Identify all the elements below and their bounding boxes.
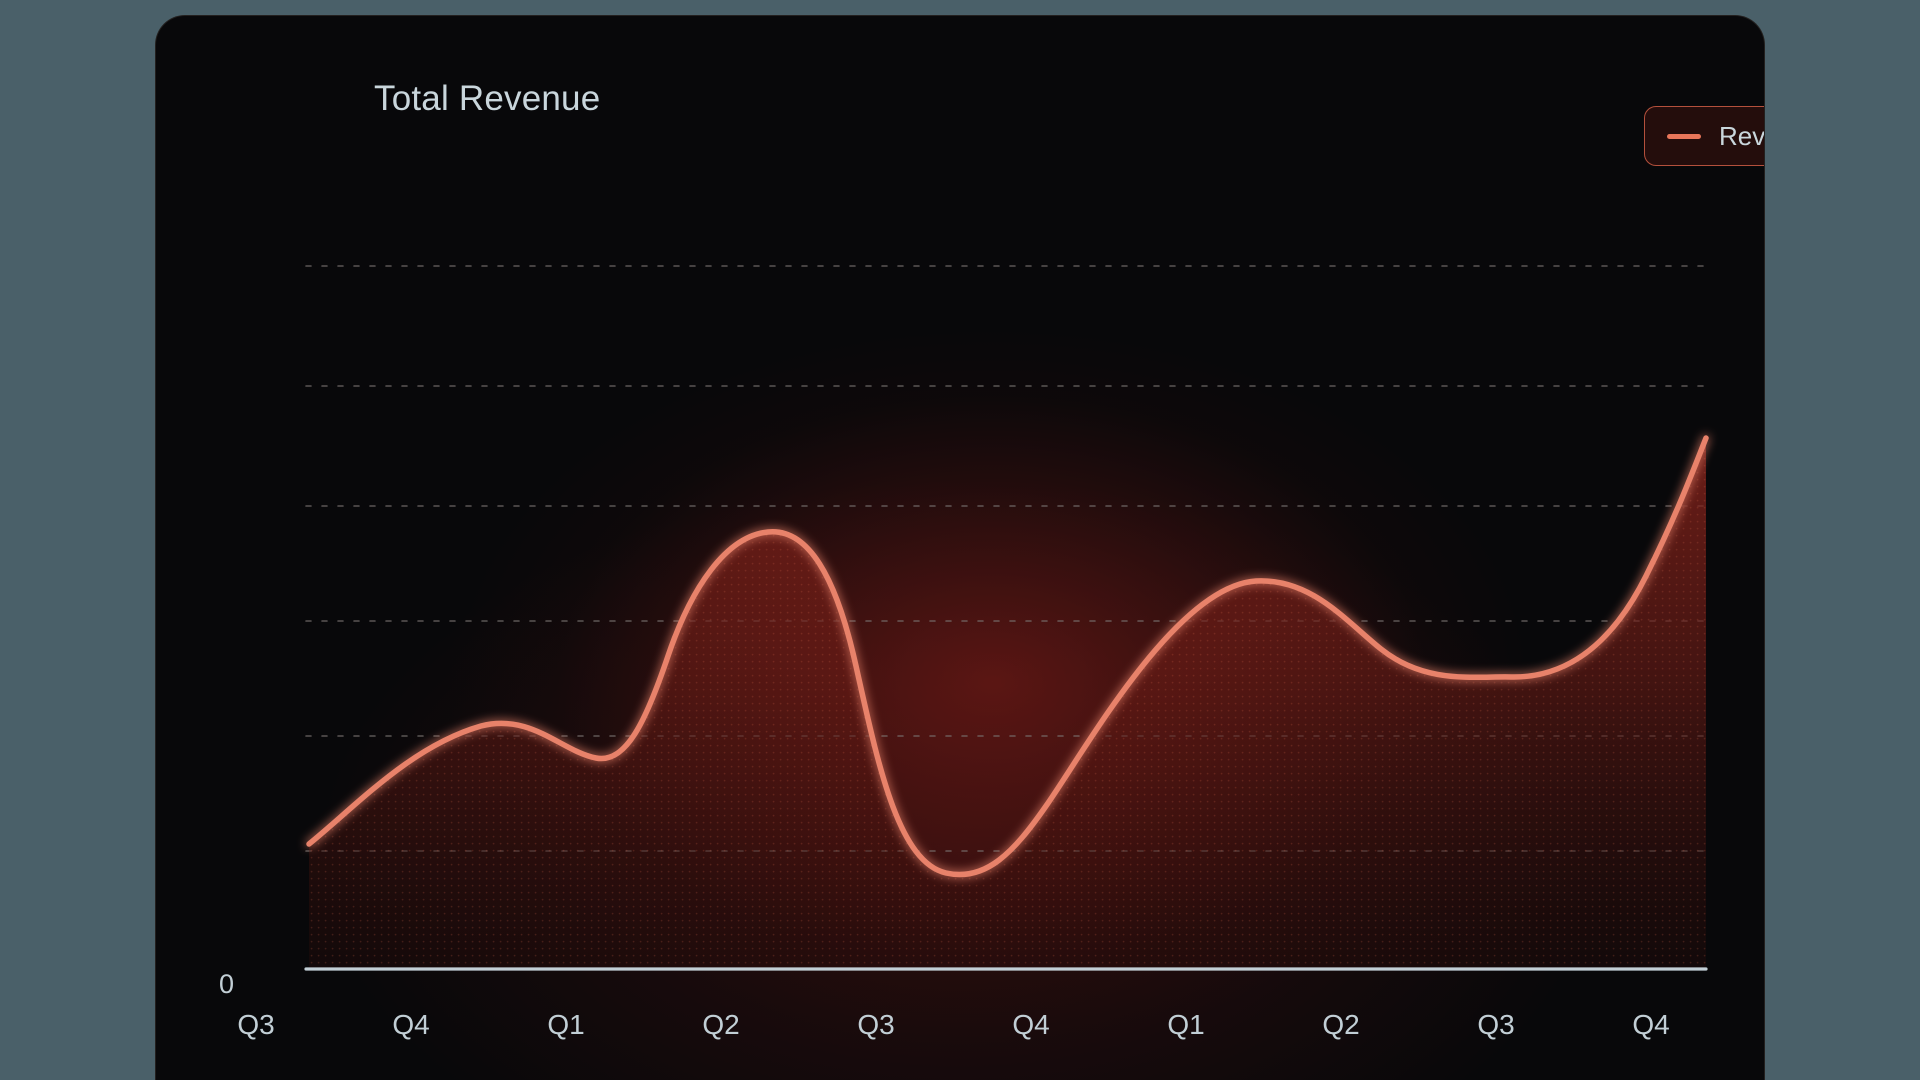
chart-plot-area[interactable]: 0 Q3 Q4 Q1 Q2 Q3 Q4 Q1 Q2 Q3 Q4 <box>156 16 1765 1080</box>
x-axis-tick-label: Q4 <box>392 1009 429 1041</box>
x-axis-tick-label: Q2 <box>1322 1009 1359 1041</box>
x-axis-tick-label: Q4 <box>1632 1009 1669 1041</box>
x-axis-tick-label: Q3 <box>1477 1009 1514 1041</box>
screen-root: Total Revenue Revenue <box>0 0 1920 1080</box>
y-axis-zero-label: 0 <box>219 969 234 1000</box>
x-axis-tick-label: Q4 <box>1012 1009 1049 1041</box>
chart-area-fill <box>306 416 1716 976</box>
x-axis-tick-label: Q1 <box>547 1009 584 1041</box>
x-axis-tick-label: Q1 <box>1167 1009 1204 1041</box>
x-axis-tick-label: Q3 <box>237 1009 274 1041</box>
revenue-line-chart-svg <box>156 16 1765 1080</box>
x-axis-tick-label: Q3 <box>857 1009 894 1041</box>
revenue-chart-card: Total Revenue Revenue <box>155 15 1765 1080</box>
x-axis-tick-label: Q2 <box>702 1009 739 1041</box>
